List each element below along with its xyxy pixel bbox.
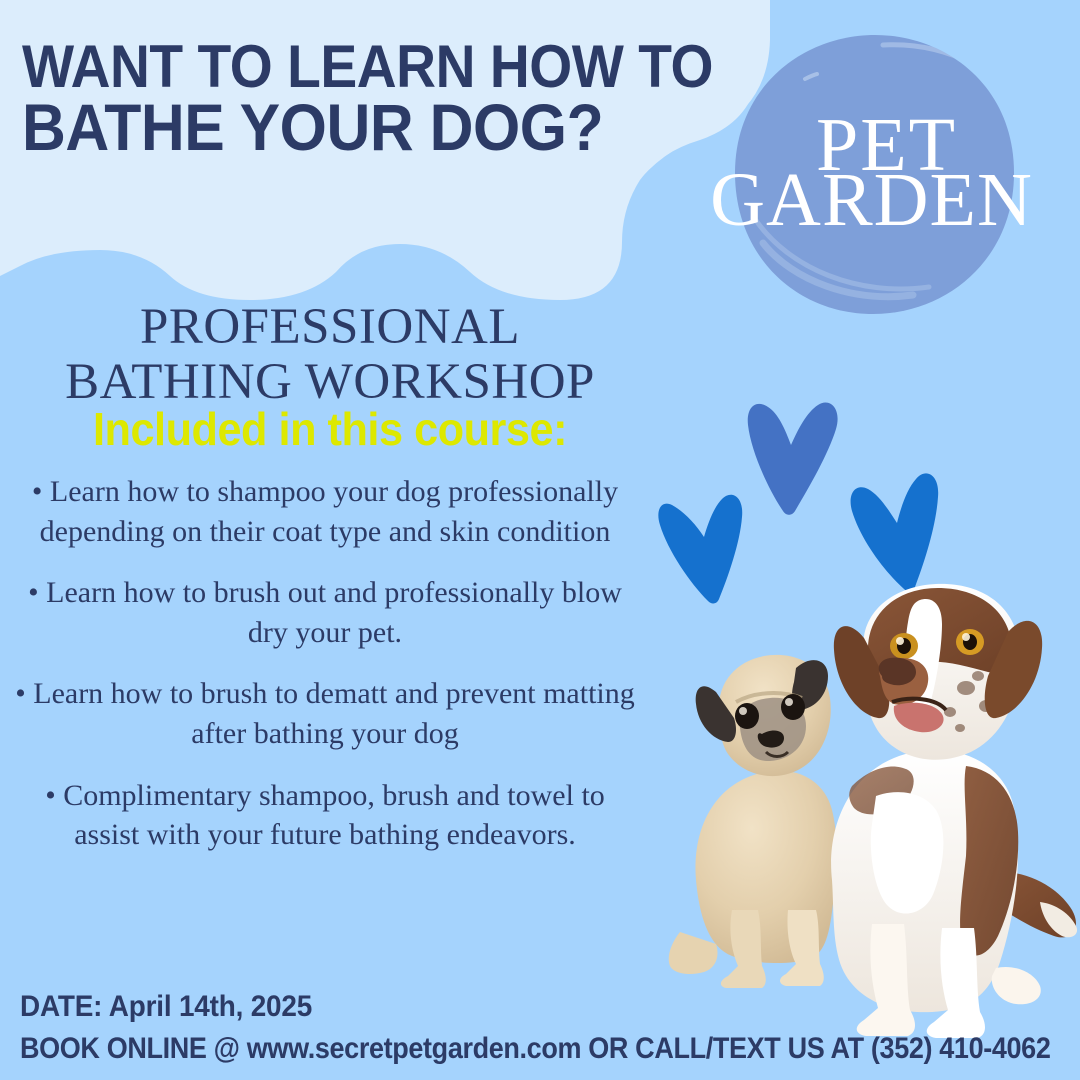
- australian-shepherd-dog: [831, 584, 1077, 1038]
- logo-circle-svg: [733, 33, 1016, 316]
- heart-center-icon: [748, 402, 838, 514]
- list-item: • Learn how to shampoo your dog professi…: [0, 472, 650, 551]
- dogs-svg: [636, 580, 1080, 1040]
- subtitle-line-2: BATHING WORKSHOP: [0, 355, 660, 410]
- list-item: • Learn how to brush to dematt and preve…: [0, 674, 650, 753]
- headline-line-1: WANT TO LEARN HOW TO: [22, 38, 713, 96]
- footer-date: DATE: April 14th, 2025: [20, 989, 1080, 1024]
- list-item: • Complimentary shampoo, brush and towel…: [0, 776, 650, 855]
- dog-photos: [636, 580, 1080, 1040]
- course-label: Included in this course:: [20, 406, 640, 452]
- footer-booking: BOOK ONLINE @ www.secretpetgarden.com OR…: [20, 1031, 1051, 1066]
- heart-right-icon: [851, 473, 939, 591]
- headline-line-2: BATHE YOUR DOG?: [22, 96, 713, 159]
- subtitle: PROFESSIONAL BATHING WORKSHOP: [0, 300, 660, 410]
- list-item: • Learn how to brush out and professiona…: [0, 573, 650, 652]
- pet-garden-logo: PET GARDEN: [733, 33, 1016, 316]
- pug-dog: [669, 655, 837, 988]
- bullet-list: • Learn how to shampoo your dog professi…: [0, 472, 650, 855]
- poster-canvas: WANT TO LEARN HOW TO BATHE YOUR DOG? PET…: [0, 0, 1080, 1080]
- footer: DATE: April 14th, 2025 BOOK ONLINE @ www…: [20, 989, 1080, 1066]
- subtitle-line-1: PROFESSIONAL: [0, 300, 660, 355]
- headline: WANT TO LEARN HOW TO BATHE YOUR DOG?: [22, 38, 713, 159]
